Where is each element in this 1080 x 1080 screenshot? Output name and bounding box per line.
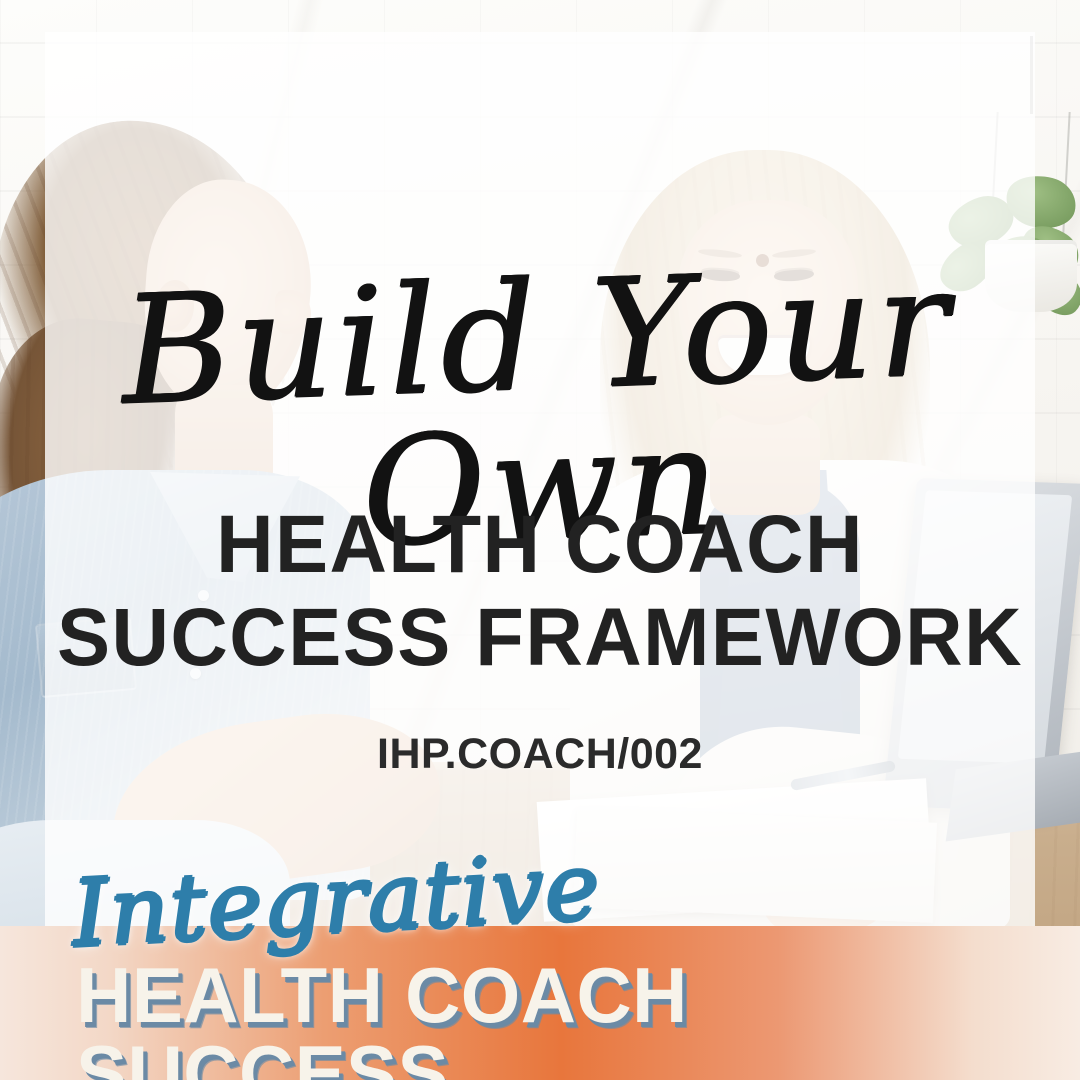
podcast-cover-image: Build Your Own HEALTH COACH SUCCESS FRAM… — [0, 0, 1080, 1080]
episode-url: IHP.COACH/002 — [0, 730, 1080, 779]
brand-name-script: Integrative — [70, 841, 603, 961]
title-block: HEALTH COACH SUCCESS FRAMEWORK — [0, 498, 1080, 685]
title-line-2: SUCCESS FRAMEWORK — [16, 591, 1064, 684]
brand-name-main: HEALTH COACH SUCCESS — [76, 956, 1070, 1080]
title-line-1: HEALTH COACH — [16, 498, 1064, 591]
